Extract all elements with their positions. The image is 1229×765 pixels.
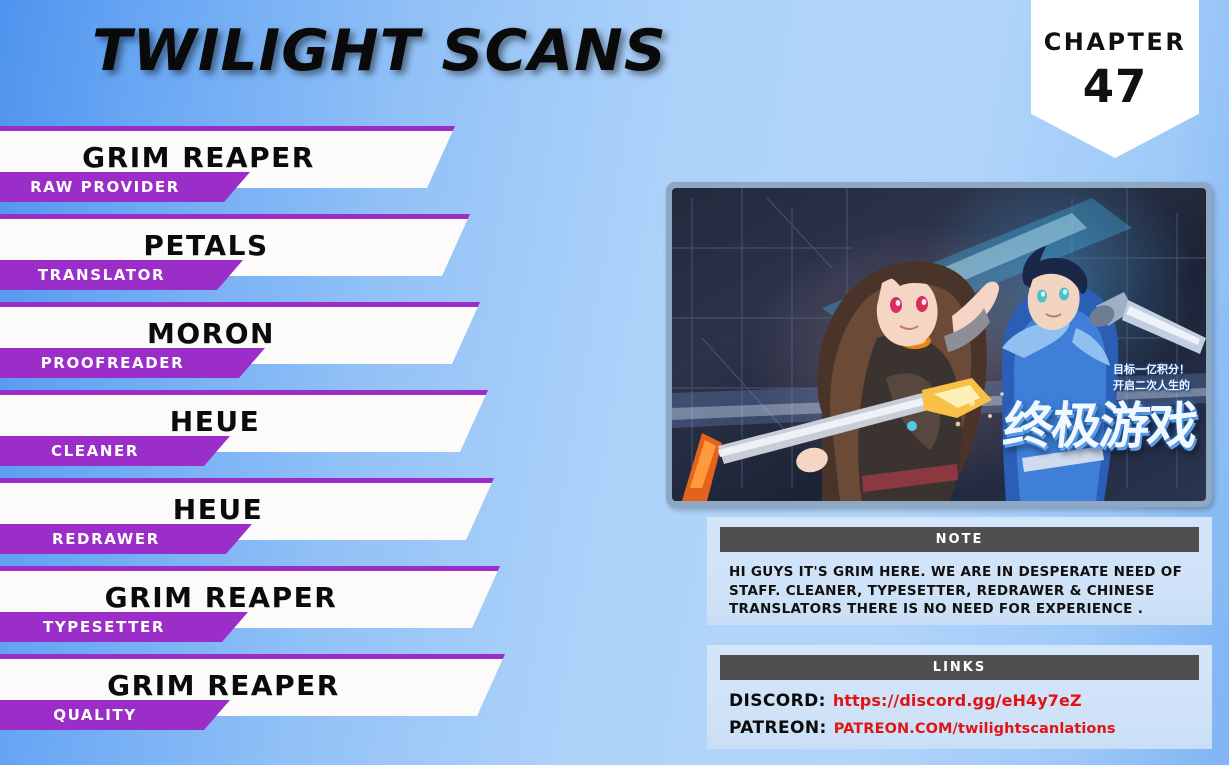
chapter-number: 47: [1031, 60, 1199, 113]
links-panel: LINKS DISCORD:https://discord.gg/eH4y7eZ…: [707, 645, 1212, 749]
links-header-label: LINKS: [933, 660, 986, 675]
link-label: DISCORD:: [729, 691, 826, 711]
credit-role-banner: REDRAWER: [0, 524, 252, 554]
link-url[interactable]: PATREON.COM/twilightscanlations: [834, 721, 1116, 737]
credit-role: REDRAWER: [0, 530, 252, 548]
link-url[interactable]: https://discord.gg/eH4y7eZ: [833, 691, 1082, 710]
credit-row: GRIM REAPERTYPESETTER: [0, 566, 520, 654]
credit-name: PETALS: [143, 229, 268, 262]
credit-role-banner: TRANSLATOR: [0, 260, 243, 290]
credit-name: HEUE: [173, 493, 263, 526]
credit-row: MORONPROOFREADER: [0, 302, 520, 390]
credit-role: TYPESETTER: [0, 618, 248, 636]
credit-role-banner: QUALITY: [0, 700, 230, 730]
credit-role-banner: CLEANER: [0, 436, 230, 466]
page-title: TWILIGHT SCANS: [92, 18, 667, 84]
credit-row: HEUECLEANER: [0, 390, 520, 478]
note-body: HI GUYS IT'S GRIM HERE. WE ARE IN DESPER…: [707, 552, 1212, 633]
credit-row: PETALSTRANSLATOR: [0, 214, 520, 302]
links-header: LINKS: [720, 655, 1199, 680]
chapter-badge: CHAPTER 47: [1031, 0, 1199, 158]
note-panel: NOTE HI GUYS IT'S GRIM HERE. WE ARE IN D…: [707, 517, 1212, 625]
credit-role: CLEANER: [0, 442, 230, 460]
credit-role-banner: RAW PROVIDER: [0, 172, 250, 202]
link-label: PATREON:: [729, 718, 827, 738]
cover-image-frame: 目标一亿积分！ 开启二次人生的 终极游戏: [666, 182, 1212, 507]
cover-chinese-title: 终极游戏: [1000, 386, 1200, 458]
link-row[interactable]: PATREON:PATREON.COM/twilightscanlations: [729, 718, 1190, 738]
credit-role: PROOFREADER: [0, 354, 265, 372]
credit-row: HEUEREDRAWER: [0, 478, 520, 566]
note-header: NOTE: [720, 527, 1199, 552]
credit-name: GRIM REAPER: [82, 141, 315, 174]
credit-role: QUALITY: [0, 706, 230, 724]
link-row[interactable]: DISCORD:https://discord.gg/eH4y7eZ: [729, 691, 1190, 711]
credit-row: GRIM REAPERRAW PROVIDER: [0, 126, 520, 214]
credit-name: GRIM REAPER: [105, 581, 338, 614]
credit-role-banner: TYPESETTER: [0, 612, 248, 642]
credit-name: HEUE: [170, 405, 260, 438]
chapter-label: CHAPTER: [1031, 28, 1199, 56]
links-body: DISCORD:https://discord.gg/eH4y7eZPATREO…: [707, 680, 1212, 759]
cover-artwork: 目标一亿积分！ 开启二次人生的 终极游戏: [672, 188, 1206, 501]
credit-name: GRIM REAPER: [107, 669, 340, 702]
note-header-label: NOTE: [936, 532, 984, 547]
credits-list: GRIM REAPERRAW PROVIDERPETALSTRANSLATORM…: [0, 126, 520, 742]
credit-role: TRANSLATOR: [0, 266, 243, 284]
credit-row: GRIM REAPERQUALITY: [0, 654, 520, 742]
credit-name: MORON: [147, 317, 275, 350]
credit-role-banner: PROOFREADER: [0, 348, 265, 378]
credit-role: RAW PROVIDER: [0, 178, 250, 196]
note-text: HI GUYS IT'S GRIM HERE. WE ARE IN DESPER…: [729, 563, 1190, 619]
